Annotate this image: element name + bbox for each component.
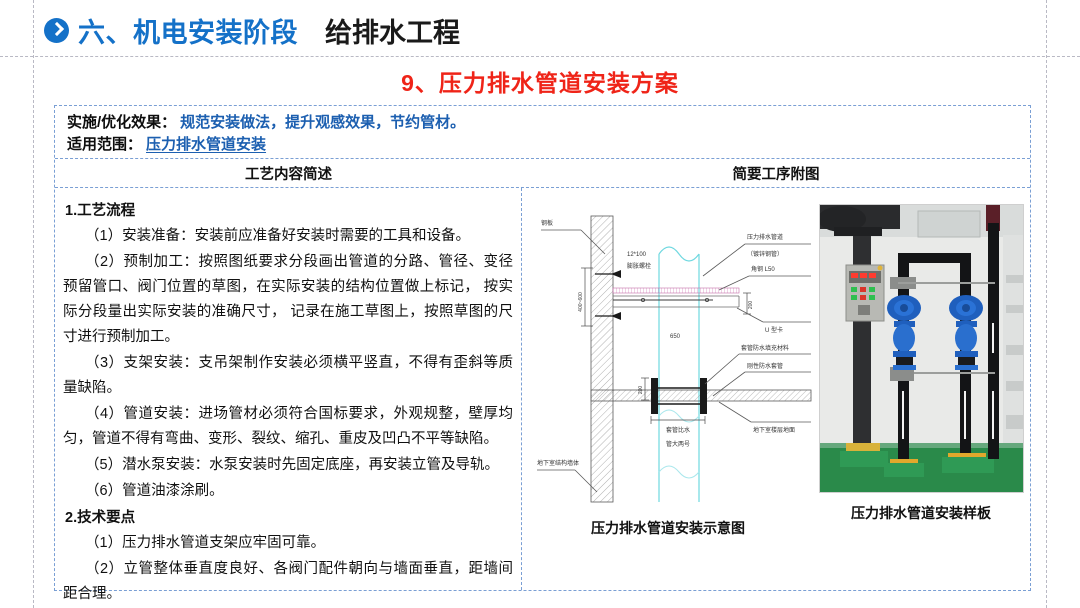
label-sleeve-gap-2: 管大两号 [666,440,690,448]
summary-row-scope: 适用范围： 压力排水管道安装 [67,134,1030,156]
scope-label: 适用范围： [67,134,142,156]
dim-wall-label: 400~600 [578,292,584,312]
process-item: （6）管道油漆涂刷。 [63,479,513,504]
dim-span-label: 650 [670,334,681,340]
figures-column: 400~600 200 650 钢板 [522,188,1030,590]
label-u-clamp: U 型卡 [765,326,783,334]
label-bolt-spec: 12*100 [627,252,647,258]
dim-sleeve-label: 200 [638,386,644,395]
effect-label: 实施/优化效果： [67,112,176,134]
label-steel-plate: 钢板 [541,219,553,227]
content-card: 实施/优化效果： 规范安装做法，提升观感效果，节约管材。 适用范围： 压力排水管… [54,105,1031,591]
summary-row-effect: 实施/优化效果： 规范安装做法，提升观感效果，节约管材。 [67,112,1030,134]
chevron-right-circle-icon [44,18,69,43]
label-sleeve-filler: 套管防水填充材料 [741,344,789,352]
process-heading: 1.工艺流程 [65,199,513,220]
scope-value: 压力排水管道安装 [146,134,266,156]
key-points-heading: 2.技术要点 [65,506,513,527]
label-sleeve-gap: 套管比水 [666,426,690,434]
pipe-installation-drawing: 400~600 200 650 钢板 [523,204,813,504]
label-basement-wall: 地下室结构墙体 [537,459,579,467]
label-pipe: 压力排水管道 [747,233,783,241]
summary-band: 实施/优化效果： 规范安装做法，提升观感效果，节约管材。 适用范围： 压力排水管… [55,106,1030,159]
dim-drop-label: 200 [748,301,754,310]
diagram-caption: 压力排水管道安装示意图 [591,518,745,538]
content-body: 1.工艺流程 （1）安装准备：安装前应准备好安装时需要的工具和设备。 （2）预制… [55,188,1030,590]
header-main-title: 六、机电安装阶段 [78,11,298,50]
section-title: 9、压力排水管道安装方案 [0,64,1080,98]
process-item: （4）管道安装：进场管材必须符合国标要求，外观规整，壁厚均匀，管道不得有弯曲、变… [63,402,513,452]
process-text-column: 1.工艺流程 （1）安装准备：安装前应准备好安装时需要的工具和设备。 （2）预制… [55,188,522,590]
figure-photo: 压力排水管道安装样板 [816,188,1026,523]
effect-value: 规范安装做法，提升观感效果，节约管材。 [180,112,465,134]
process-item: （1）安装准备：安装前应准备好安装时需要的工具和设备。 [63,224,513,249]
label-basement-floor: 地下室楼层地面 [753,426,795,434]
installation-photo [819,204,1024,493]
guide-line-top [0,56,1080,57]
figure-diagram: 400~600 200 650 钢板 [522,188,814,538]
process-item: （5）潜水泵安装：水泵安装时先固定底座，再安装立管及导轨。 [63,453,513,478]
process-item: （2）预制加工：按照图纸要求分段画出管道的分路、管径、变径预留管口、阀门位置的草… [63,250,513,350]
slide-page: 六、机电安装阶段 给排水工程 9、压力排水管道安装方案 实施/优化效果： 规范安… [0,0,1080,608]
key-point-item: （1）压力排水管道支架应牢固可靠。 [63,531,513,556]
label-pipe-material: （镀锌钢管） [747,250,783,258]
label-angle-steel: 角钢 L50 [751,265,775,273]
photo-caption: 压力排水管道安装样板 [851,503,991,523]
column-header-row: 工艺内容简述 简要工序附图 [55,159,1030,188]
header-sub-title: 给排水工程 [325,11,460,50]
photo-content [820,205,1024,493]
key-point-item: （2）立管整体垂直度良好、各阀门配件朝向与墙面垂直，距墙间距合理。 [63,557,513,607]
label-rigid-sleeve: 刚性防水套管 [747,362,783,370]
label-bolt: 膨胀螺栓 [627,262,651,270]
column-header-left: 工艺内容简述 [55,159,522,187]
slide-header: 六、机电安装阶段 给排水工程 [44,8,460,52]
process-item: （3）支架安装：支吊架制作安装必须横平竖直，不得有歪斜等质量缺陷。 [63,351,513,401]
column-header-right: 简要工序附图 [522,159,1030,187]
